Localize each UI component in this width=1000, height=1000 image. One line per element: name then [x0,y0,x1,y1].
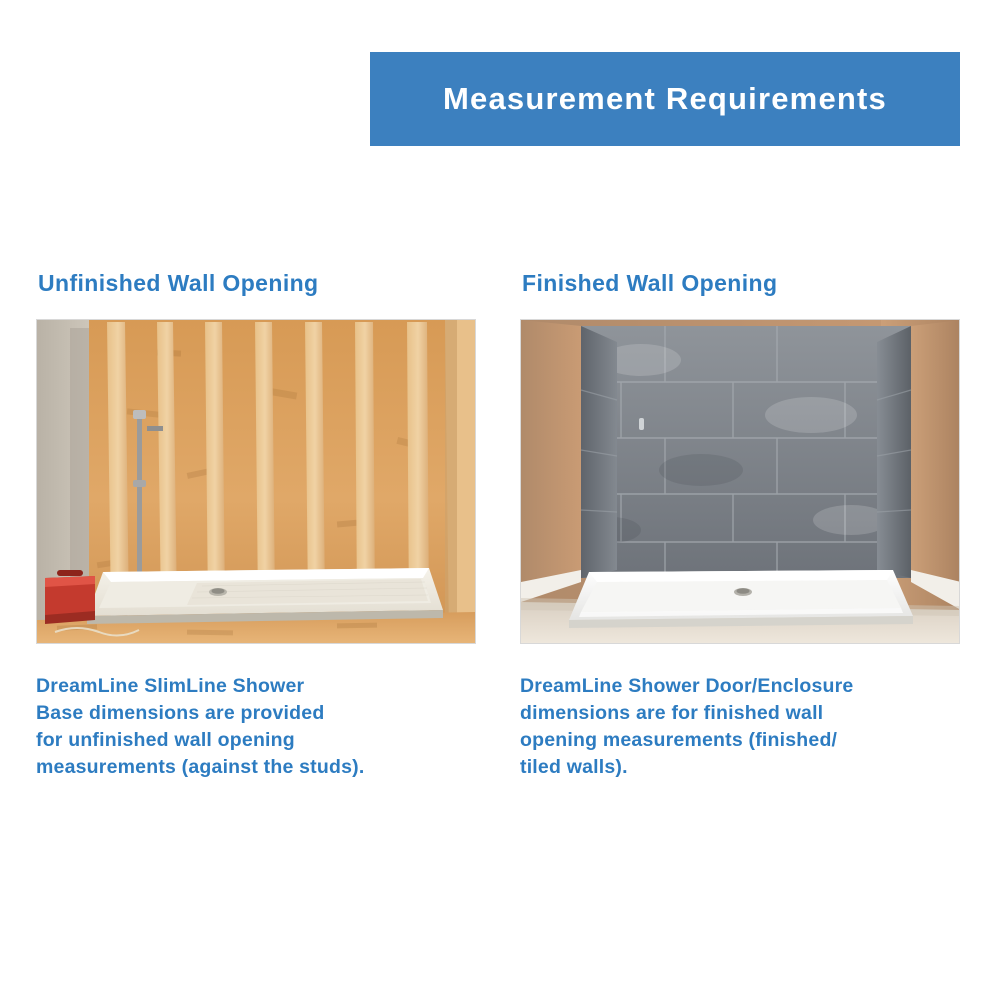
header-banner: Measurement Requirements [370,52,960,146]
page-title: Measurement Requirements [443,81,887,117]
panel-finished: Finished Wall Opening [520,270,960,781]
caption-finished: DreamLine Shower Door/Enclosure dimensio… [520,673,960,781]
photo-finished-wall-opening [520,319,960,644]
panel-unfinished: Unfinished Wall Opening [36,270,476,781]
page-root: Measurement Requirements Unfinished Wall… [0,0,1000,1000]
caption-unfinished: DreamLine SlimLine Shower Base dimension… [36,673,476,781]
photo-unfinished-wall-opening [36,319,476,644]
unfinished-wall-illustration [37,320,476,644]
panel-heading-finished: Finished Wall Opening [522,270,960,297]
finished-wall-illustration [521,320,960,644]
panel-heading-unfinished: Unfinished Wall Opening [38,270,476,297]
